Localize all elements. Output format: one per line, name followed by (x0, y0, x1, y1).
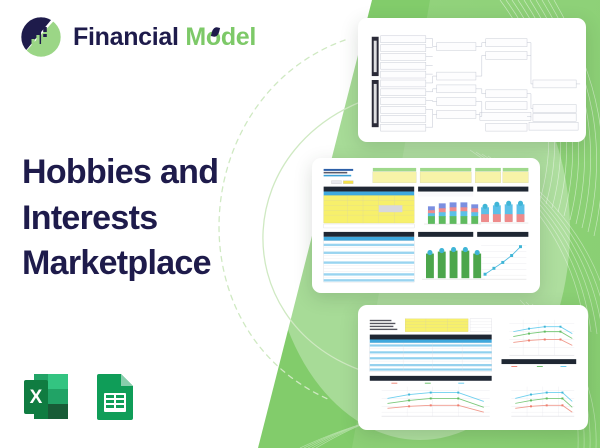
google-sheets-icon[interactable] (91, 371, 139, 423)
brand-name-part2-wrap: Model (185, 23, 256, 51)
page-title: Hobbies and Interests Marketplace (22, 150, 322, 287)
headline-line-1: Hobbies and (22, 150, 322, 196)
brand-name-part1: Financial (73, 23, 179, 51)
dupont-diagram (358, 18, 586, 142)
headline-line-2: Interests (22, 196, 322, 242)
file-format-icons: X (22, 371, 139, 423)
svg-text:X: X (30, 387, 43, 408)
headline-line-3: Marketplace (22, 241, 322, 287)
brand-wordmark: Financial Model (73, 25, 256, 50)
line-charts-card[interactable] (358, 305, 588, 430)
excel-icon[interactable]: X (22, 371, 70, 423)
dashboard-card[interactable] (312, 158, 540, 293)
ratio-charts-screenshot (358, 305, 588, 430)
dupont-analysis-card[interactable] (358, 18, 586, 142)
dashboard-screenshot (312, 158, 540, 293)
promo-banner: Financial Model Hobbies and Interests Ma… (0, 0, 600, 448)
circle-bar-chart-logo-icon (20, 16, 62, 58)
brand-name-part2: Model (185, 23, 256, 51)
brand-logo[interactable]: Financial Model (20, 16, 256, 58)
